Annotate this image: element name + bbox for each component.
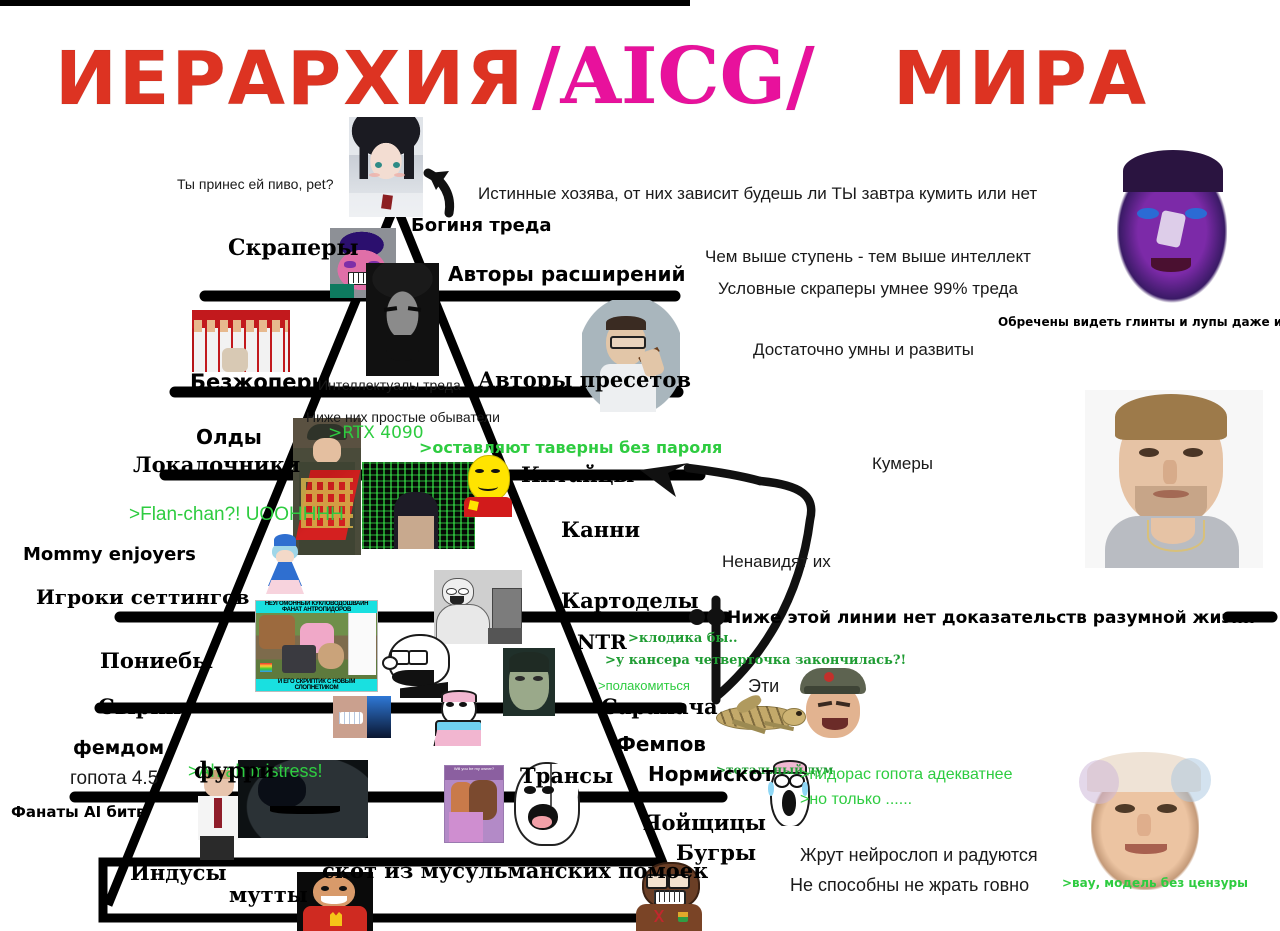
locust-grasshopper [706,690,812,746]
trans-wojak [433,690,481,746]
eat-slop-line1: Жрут нейрослоп и радуются [800,845,1038,866]
fangs-mouth-closeup [333,696,391,738]
label-normiskot: Нормискот [648,762,774,786]
label-transy: Трансы [520,763,613,788]
label-mommy-enjoyers: Mommy enjoyers [23,544,196,565]
greentext-gopota: >пидорас гопота адекватнее [800,766,1012,784]
extension-author-portrait [366,263,439,376]
greentext-flan: >Flan-chan?! UOOHHHH [129,504,344,526]
higher-step-text: Чем выше ступень - тем выше интеллект [705,247,1031,267]
label-syrki: Сырки [98,694,181,719]
label-kanni: Канни [561,517,640,542]
cirno-fairy-sprite [262,528,308,598]
blond-gosling-head [1075,752,1215,892]
label-yaoishchicy: Яойщицы [643,810,766,835]
label-kartodely: Картоделы [561,588,699,613]
label-mutty: мутты [229,882,308,907]
label-ext-authors: Авторы расширений [448,262,685,286]
meme-canvas: ИЕРАРХИЯ /AICG/ МИРА [0,0,1280,931]
label-femdom: фемдом [73,737,164,759]
purple-gosling-head [1107,150,1237,310]
label-poniebi: Пониебы [100,648,213,673]
label-ai-fans: Фанаты AI битв [11,803,146,821]
pet-question-text: Ты принес ей пиво, pet? [177,176,333,192]
slopnetic-meme-card: НЕУГОМОННЫЙ КУКЛОВОДОШВАЙН ФАНАТ АНТРОПИ… [255,600,378,692]
line-node-dot [707,608,725,626]
smart-enough-text: Достаточно умны и развиты [753,340,974,360]
greentext-ntr-1: >клодика бы.. [628,631,738,646]
chinese-yellow-wojak [462,455,514,517]
label-oldy: Олды [196,425,262,449]
greentext-taverns: >оставляют таверны без пароля [419,438,722,457]
greentext-ntr-2: >у кансера четверточка закончилась?! [605,653,906,668]
label-indusy: Индусы [130,860,227,885]
label-fempov: Фемпов [616,732,706,756]
eat-slop-line2: Не способны не жрать говно [790,875,1029,896]
bezhopery-group-photo [192,310,290,372]
label-preset-authors: Авторы пресетов [478,367,691,392]
no-proof-line-text: Ниже этой линии нет доказательств разумн… [727,608,1255,628]
true-masters-text: Истинные хозява, от них зависит будешь л… [478,184,1037,204]
label-muslim-cattle: скот из мусульманских помоек [322,858,708,883]
label-lokalochniki: Локалочники [133,452,300,477]
greentext-wow-model: >вау, модель без цензуры [1062,876,1248,890]
greentext-but-only: >но только ...... [800,791,912,809]
coomers-text: Кумеры [872,454,933,474]
greentext-rtx: >RTX 4090 [328,423,424,443]
green-anime-face [503,648,555,716]
label-chinese: Китайцы [521,462,634,487]
meme-caption-top: НЕУГОМОННЫЙ КУКЛОВОДОШВАЙН ФАНАТ АНТРОПИ… [256,601,377,613]
laughing-soldier-face [798,662,870,738]
label-furry: фурри [194,758,275,784]
label-saranacha: Саранача [601,694,718,719]
label-bezhopery: Безжоперы [190,370,331,394]
hate-them-text: Ненавидят их [722,552,831,572]
scrapers-smarter-text: Условные скраперы умнее 99% треда [718,279,1018,299]
locals-matrix-screen [362,462,475,549]
doomed-glints-text: Обречены видеть глинты и лупы даже ирл [998,315,1280,329]
label-setting-players: Игроки сеттингов [36,585,249,609]
label-goddess: Богиня треда [411,215,552,236]
intellectuals-text: Интеллектуалы треда [318,377,461,393]
greentext-snack: >полакомиться [598,678,690,693]
gosling-portrait-middle [1085,390,1263,568]
label-scrapers: Скраперы [228,235,359,261]
label-ntr: NTR [577,630,627,654]
goddess-anime-portrait [349,117,423,217]
meme-caption-bottom: И ЕГО СКРИПТИК С НОВЫМ СЛОПНЕТИКОМ [256,679,377,691]
anime-confession-card: Will you be my owner? [444,765,504,843]
label-gopota45: гопота 4.5 [70,768,158,790]
these-text: Эти [748,676,779,697]
preset-author-cigar-portrait [582,300,680,412]
